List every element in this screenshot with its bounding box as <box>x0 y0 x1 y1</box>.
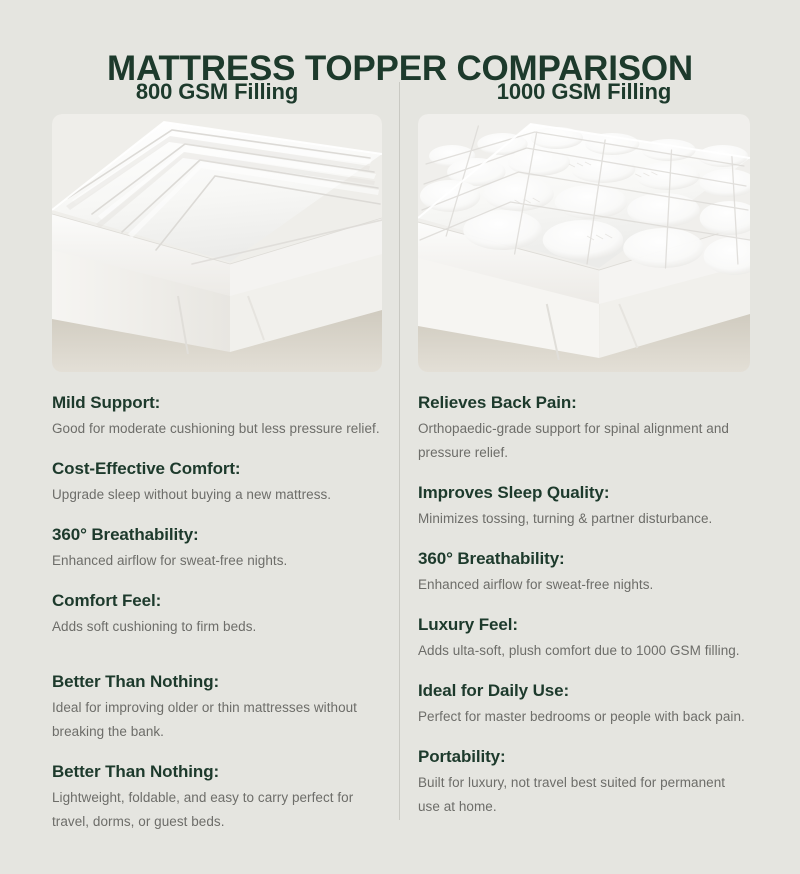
feature-title: Ideal for Daily Use: <box>418 680 750 702</box>
column-title-1000gsm: 1000 GSM Filling <box>418 78 750 106</box>
feature-item: Better Than Nothing: Lightweight, foldab… <box>52 761 382 834</box>
feature-description: Lightweight, foldable, and easy to carry… <box>52 786 382 834</box>
feature-title: 360° Breathability: <box>52 524 382 546</box>
feature-item: Ideal for Daily Use: Perfect for master … <box>418 680 750 729</box>
feature-description: Good for moderate cushioning but less pr… <box>52 417 382 441</box>
feature-list-800gsm: Mild Support: Good for moderate cushioni… <box>52 392 382 834</box>
feature-title: Portability: <box>418 746 750 768</box>
feature-item: Improves Sleep Quality: Minimizes tossin… <box>418 482 750 531</box>
feature-title: Comfort Feel: <box>52 590 382 612</box>
comparison-page: MATTRESS TOPPER COMPARISON 800 GSM Filli… <box>0 0 800 874</box>
product-image-card-1000gsm[interactable] <box>418 114 750 372</box>
feature-item: Luxury Feel: Adds ulta-soft, plush comfo… <box>418 614 750 663</box>
feature-description: Ideal for improving older or thin mattre… <box>52 696 382 744</box>
feature-list-1000gsm: Relieves Back Pain: Orthopaedic-grade su… <box>418 392 750 819</box>
feature-title: Better Than Nothing: <box>52 671 382 693</box>
mattress-topper-800gsm-image <box>52 114 382 372</box>
feature-item: Better Than Nothing: Ideal for improving… <box>52 671 382 744</box>
feature-title: 360° Breathability: <box>418 548 750 570</box>
feature-description: Enhanced airflow for sweat-free nights. <box>52 549 382 573</box>
feature-description: Minimizes tossing, turning & partner dis… <box>418 507 750 531</box>
feature-item: Mild Support: Good for moderate cushioni… <box>52 392 382 441</box>
mattress-topper-1000gsm-image <box>418 114 750 372</box>
feature-title: Improves Sleep Quality: <box>418 482 750 504</box>
feature-description: Orthopaedic-grade support for spinal ali… <box>418 417 750 465</box>
feature-description: Upgrade sleep without buying a new mattr… <box>52 483 382 507</box>
feature-title: Cost-Effective Comfort: <box>52 458 382 480</box>
feature-item: Comfort Feel: Adds soft cushioning to fi… <box>52 590 382 639</box>
feature-description: Enhanced airflow for sweat-free nights. <box>418 573 750 597</box>
feature-item: Relieves Back Pain: Orthopaedic-grade su… <box>418 392 750 465</box>
feature-item: Cost-Effective Comfort: Upgrade sleep wi… <box>52 458 382 507</box>
feature-description: Built for luxury, not travel best suited… <box>418 771 750 819</box>
product-image-card-800gsm[interactable] <box>52 114 382 372</box>
feature-item: 360° Breathability: Enhanced airflow for… <box>418 548 750 597</box>
feature-item: 360° Breathability: Enhanced airflow for… <box>52 524 382 573</box>
feature-description: Adds soft cushioning to firm beds. <box>52 615 382 639</box>
column-800gsm: 800 GSM Filling <box>0 78 400 851</box>
column-title-800gsm: 800 GSM Filling <box>52 78 382 106</box>
feature-title: Relieves Back Pain: <box>418 392 750 414</box>
feature-title: Mild Support: <box>52 392 382 414</box>
comparison-columns: 800 GSM Filling <box>0 78 800 851</box>
feature-item: Portability: Built for luxury, not trave… <box>418 746 750 819</box>
feature-title: Luxury Feel: <box>418 614 750 636</box>
feature-description: Adds ulta-soft, plush comfort due to 100… <box>418 639 750 663</box>
column-1000gsm: 1000 GSM Filling <box>400 78 800 836</box>
feature-description: Perfect for master bedrooms or people wi… <box>418 705 750 729</box>
feature-title: Better Than Nothing: <box>52 761 382 783</box>
